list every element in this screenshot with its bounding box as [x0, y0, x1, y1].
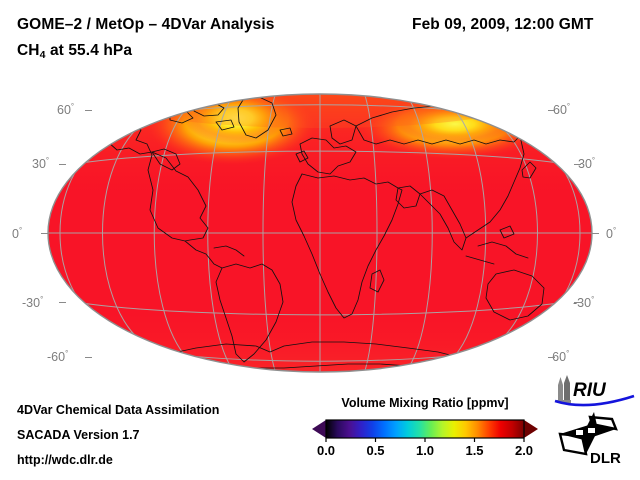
dlr-logo: DLR — [556, 410, 634, 468]
footer-line-assimilation: 4DVar Chemical Data Assimilation — [17, 403, 219, 417]
colorbar-tick-labels: 0.00.51.01.52.0 — [300, 443, 550, 463]
map-panel: 60° 30° 0° -30° -60° 60° 30° 0° -30° -60… — [0, 78, 640, 388]
colorbar-tick-label: 0.5 — [366, 443, 384, 458]
riu-logo-text: RIU — [573, 380, 607, 401]
lat-label-left-0: 0° — [12, 226, 22, 241]
lat-tick-right-60 — [548, 110, 555, 111]
lat-tick-left-30 — [59, 164, 66, 165]
species-prefix: CH — [17, 42, 40, 59]
lat-label-left-30: 30° — [32, 156, 49, 171]
lat-tick-right-m60 — [548, 357, 555, 358]
mollweide-map — [0, 78, 640, 388]
species-suffix: at 55.4 hPa — [46, 42, 133, 59]
colorbar-scale[interactable] — [300, 418, 550, 442]
lat-label-right-60: 60° — [553, 102, 570, 117]
page-title: GOME–2 / MetOp – 4DVar Analysis — [17, 16, 275, 34]
lat-label-right-0: 0° — [606, 226, 616, 241]
colorbar: Volume Mixing Ratio [ppmv] 0.00.51.01.52… — [300, 396, 550, 472]
species-subtitle: CH4 at 55.4 hPa — [17, 42, 132, 61]
lat-label-left-60: 60° — [57, 102, 74, 117]
lat-tick-right-0 — [592, 233, 599, 234]
dlr-mark-icon — [560, 412, 616, 454]
logo-group: RIU DLR — [552, 374, 638, 474]
colorbar-ticks — [326, 438, 524, 442]
colorbar-gradient — [326, 420, 524, 438]
dlr-logo-text: DLR — [590, 450, 621, 467]
lat-tick-right-m30 — [574, 302, 581, 303]
riu-tower-icon — [557, 375, 571, 403]
colorbar-tick-label: 2.0 — [515, 443, 533, 458]
lat-tick-left-0 — [41, 233, 48, 234]
lat-label-left-m30: -30° — [22, 295, 43, 310]
footer-link-wdc[interactable]: http://wdc.dlr.de — [17, 453, 113, 467]
colorbar-title: Volume Mixing Ratio [ppmv] — [300, 396, 550, 410]
colorbar-high-cap — [524, 420, 538, 438]
colorbar-tick-label: 1.0 — [416, 443, 434, 458]
riu-logo: RIU — [552, 374, 636, 408]
colorbar-tick-label: 1.5 — [465, 443, 483, 458]
colorbar-tick-label: 0.0 — [317, 443, 335, 458]
lat-tick-left-m30 — [59, 302, 66, 303]
colorbar-low-cap — [312, 420, 326, 438]
lat-label-left-m60: -60° — [47, 349, 68, 364]
footer-line-version: SACADA Version 1.7 — [17, 428, 140, 442]
lat-tick-left-60 — [85, 110, 92, 111]
datetime-label: Feb 09, 2009, 12:00 GMT — [412, 16, 594, 34]
lat-tick-right-30 — [574, 164, 581, 165]
lat-tick-left-m60 — [85, 357, 92, 358]
